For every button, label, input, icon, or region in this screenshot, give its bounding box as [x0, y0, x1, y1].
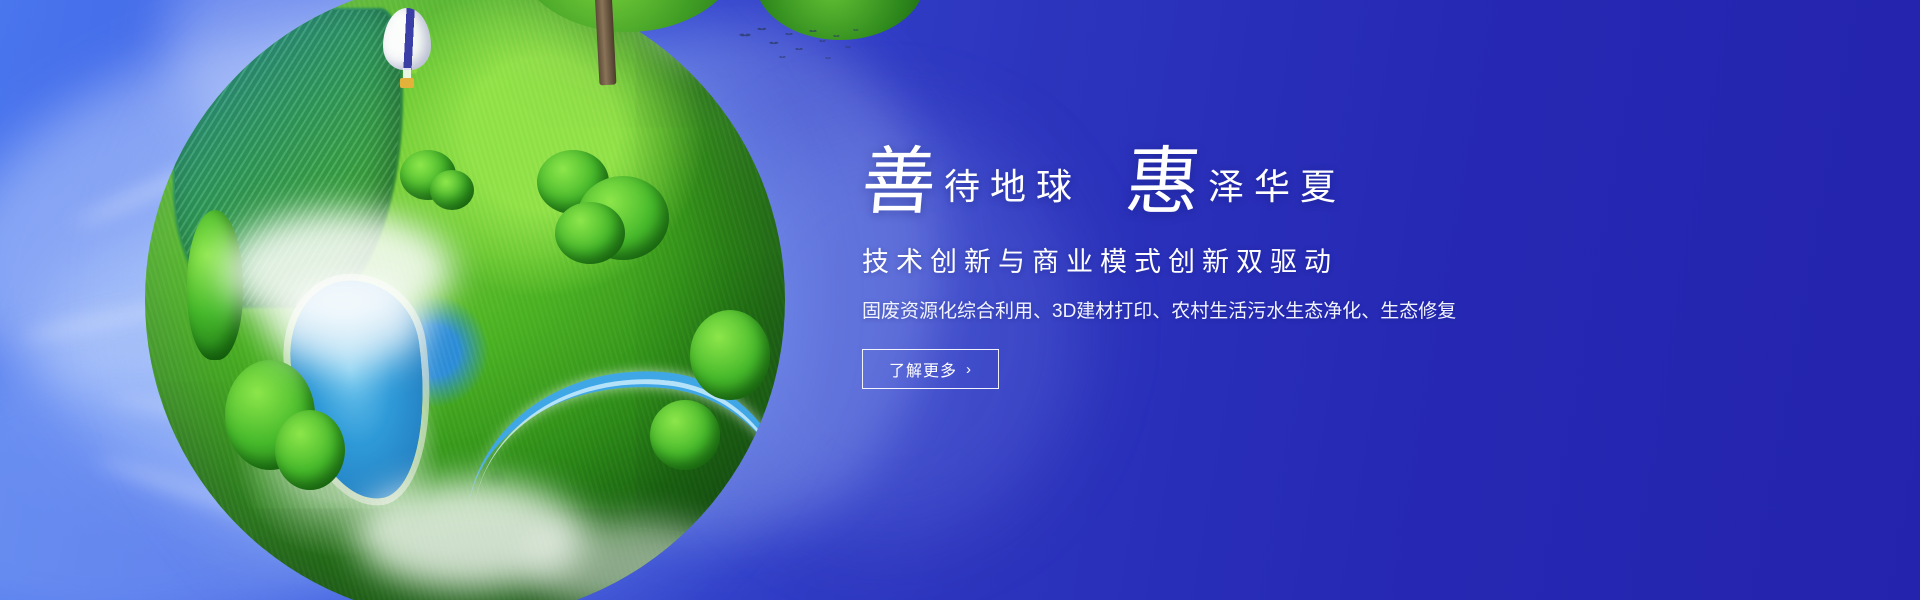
headline-brush-char-1: 善: [859, 148, 939, 216]
globe-fog: [525, 520, 735, 600]
headline-brush-char-2: 惠: [1123, 148, 1203, 216]
green-planet-illustration: [145, 0, 785, 600]
balloon-basket: [400, 78, 414, 88]
chevron-right-icon: ›: [966, 361, 972, 378]
globe-fog: [265, 280, 425, 370]
headline-small-text-1: 待地球: [936, 170, 1082, 216]
tree-cluster: [430, 170, 474, 210]
hot-air-balloon-icon: [383, 8, 431, 94]
globe-sphere: [145, 0, 785, 600]
hero-banner: 善 待地球 惠 泽华夏 技术创新与商业模式创新双驱动 固废资源化综合利用、3D建…: [0, 0, 1920, 600]
banner-copy: 善 待地球 惠 泽华夏 技术创新与商业模式创新双驱动 固废资源化综合利用、3D建…: [862, 120, 1562, 389]
page-title: 善 待地球 惠 泽华夏: [862, 120, 1562, 216]
tree-cluster: [555, 202, 625, 264]
headline-small-text-2: 泽华夏: [1200, 170, 1346, 216]
balloon-envelope: [383, 8, 431, 70]
bird-flock-icon: [735, 25, 865, 70]
learn-more-label: 了解更多: [889, 357, 957, 381]
tree-cluster: [690, 310, 770, 400]
tree-cluster: [275, 410, 345, 490]
tree-cluster: [650, 400, 720, 470]
balloon-neck: [403, 68, 411, 78]
banner-subtitle: 技术创新与商业模式创新双驱动: [862, 240, 1562, 279]
banner-description: 固废资源化综合利用、3D建材打印、农村生活污水生态净化、生态修复: [862, 296, 1562, 323]
learn-more-button[interactable]: 了解更多 ›: [862, 349, 999, 389]
